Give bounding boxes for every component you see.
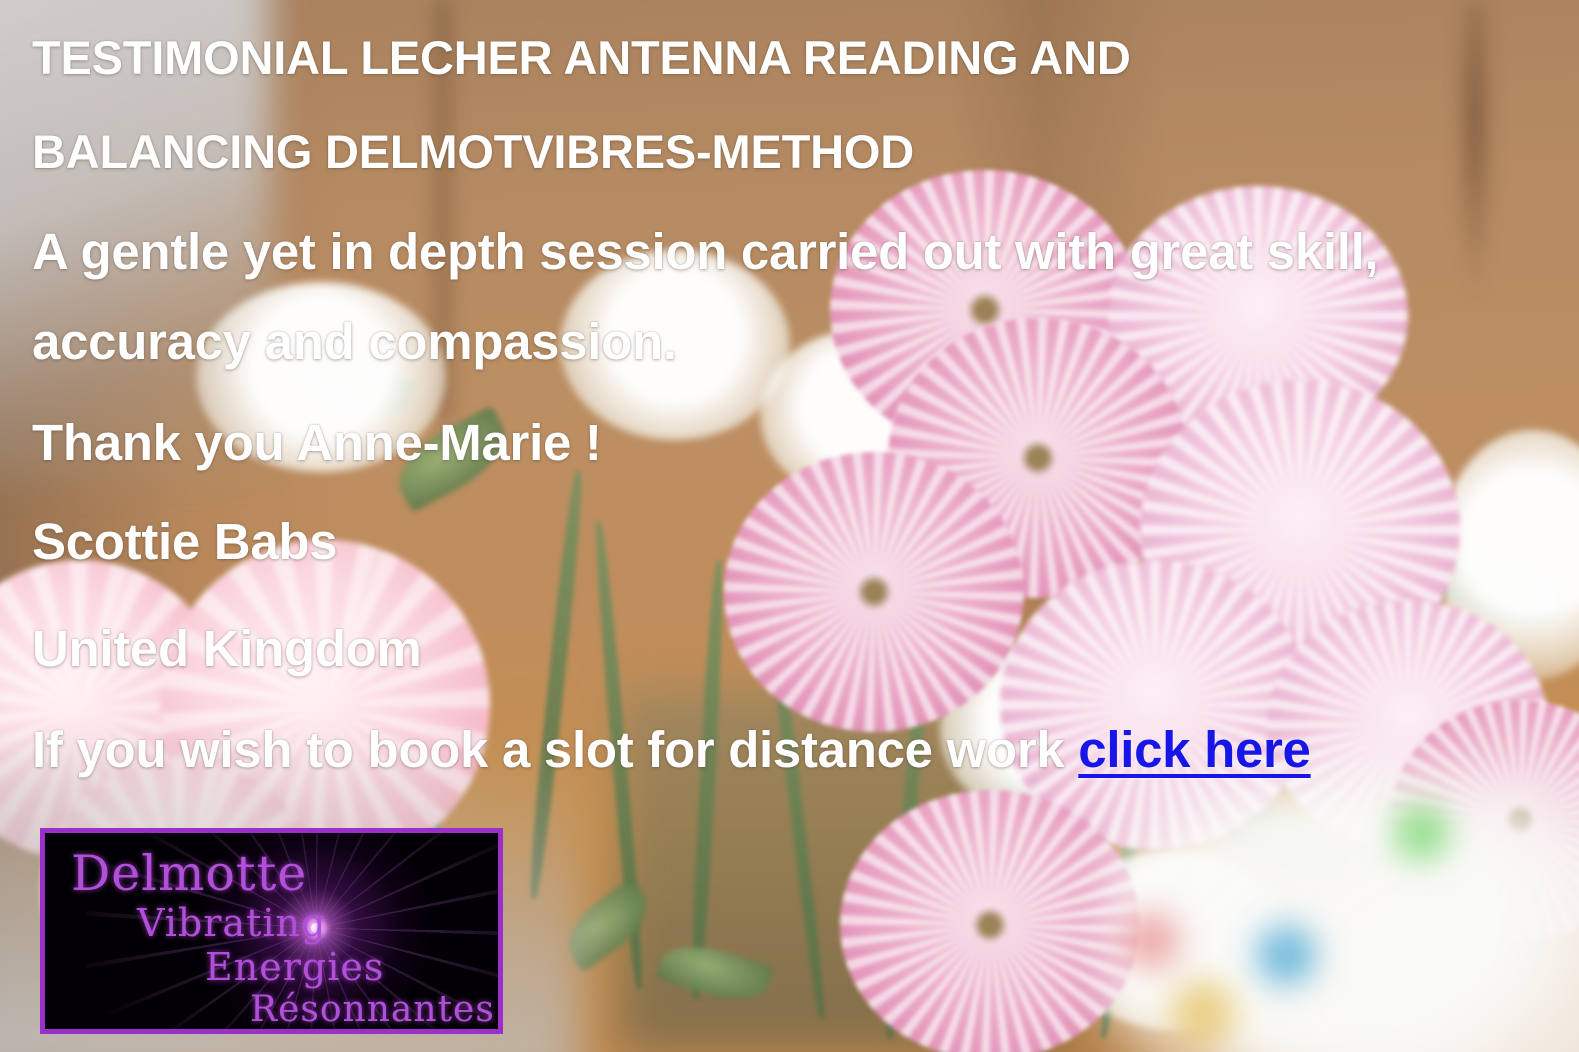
booking-cta-text: If you wish to book a slot for distance … bbox=[32, 721, 1078, 778]
testimonial-author: Scottie Babs bbox=[32, 512, 337, 571]
click-here-link[interactable]: click here bbox=[1078, 721, 1310, 778]
logo-name: Delmotte bbox=[71, 845, 307, 902]
testimonial-line-2: accuracy and compassion. bbox=[32, 312, 677, 371]
testimonial-poster: TESTIMONIAL LECHER ANTENNA READING AND B… bbox=[0, 0, 1579, 1052]
page-title-line-1: TESTIMONIAL LECHER ANTENNA READING AND bbox=[32, 30, 1131, 85]
logo-word-resonnantes: Résonnantes ® bbox=[250, 989, 503, 1030]
logo-word-vibrating: Vibrating bbox=[137, 901, 326, 945]
testimonial-thanks: Thank you Anne-Marie ! bbox=[32, 413, 602, 472]
delmotte-logo[interactable]: Delmotte Vibrating Energies Résonnantes … bbox=[40, 828, 503, 1034]
page-title-line-2: BALANCING DELMOTVIBRES-METHOD bbox=[32, 124, 914, 179]
logo-wordmark: Delmotte Vibrating Energies Résonnantes … bbox=[45, 833, 498, 1029]
logo-word-energies: Energies bbox=[205, 945, 384, 989]
booking-call-to-action: If you wish to book a slot for distance … bbox=[32, 720, 1311, 779]
testimonial-line-1: A gentle yet in depth session carried ou… bbox=[32, 222, 1378, 281]
testimonial-country: United Kingdom bbox=[32, 619, 422, 678]
